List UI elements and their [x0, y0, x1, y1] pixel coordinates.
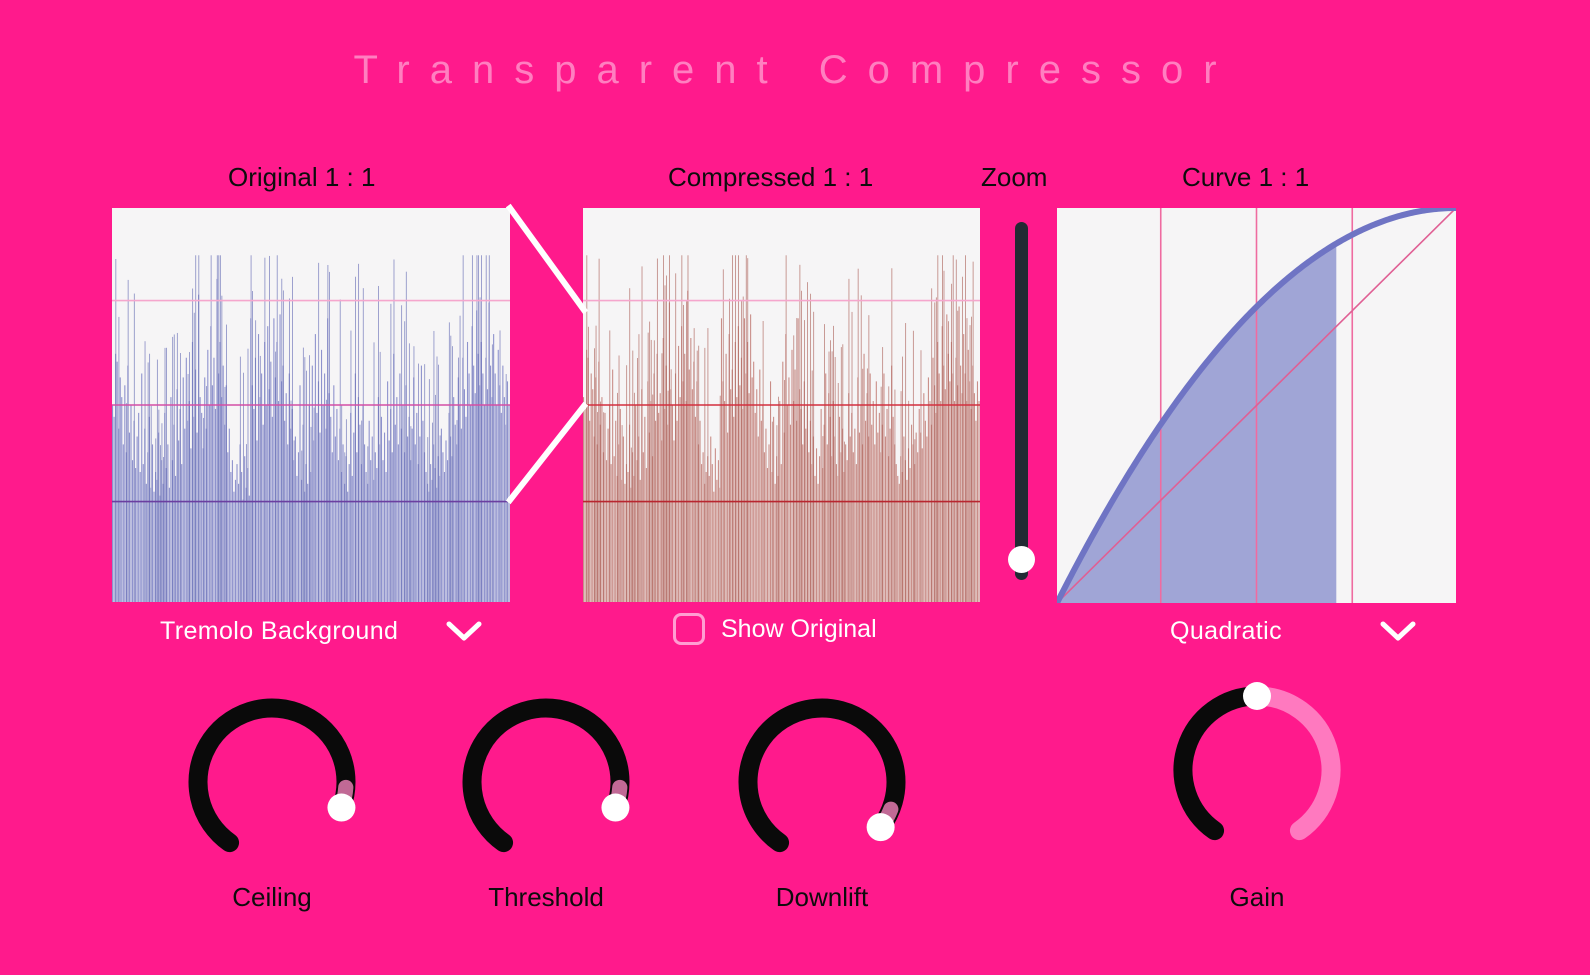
original-panel-heading: Original 1 : 1 [228, 162, 375, 193]
show-original-label: Show Original [721, 615, 877, 644]
threshold-knob[interactable]: Threshold [446, 690, 646, 913]
show-original-checkbox[interactable]: Show Original [673, 613, 877, 645]
page-title: Transparent Compressor [0, 48, 1590, 93]
threshold-knob-dial[interactable] [446, 690, 646, 880]
downlift-knob-label: Downlift [722, 882, 922, 913]
downlift-knob[interactable]: Downlift [722, 690, 922, 913]
zoom-slider-thumb[interactable] [1008, 546, 1035, 573]
gain-knob[interactable]: Gain [1157, 678, 1357, 913]
compressed-waveform-chart [583, 208, 980, 602]
ceiling-knob[interactable]: Ceiling [172, 690, 372, 913]
chevron-down-icon[interactable] [446, 620, 482, 642]
curve-panel-heading: Curve 1 : 1 [1182, 162, 1309, 193]
transfer-curve-chart [1057, 208, 1456, 603]
chevron-down-icon[interactable] [1380, 620, 1416, 642]
waveform-mode-dropdown[interactable]: Tremolo Background [160, 614, 482, 648]
compressed-waveform-panel[interactable] [583, 208, 980, 602]
gain-knob-arc [1157, 678, 1357, 868]
zoom-slider-track[interactable] [1015, 222, 1028, 580]
downlift-knob-dial[interactable] [722, 690, 922, 880]
ceiling-knob-label: Ceiling [172, 882, 372, 913]
ceiling-knob-dial[interactable] [172, 690, 372, 880]
plugin-window: Transparent Compressor Original 1 : 1 Co… [0, 0, 1590, 975]
threshold-knob-arc [446, 690, 646, 880]
checkbox-box-icon[interactable] [673, 613, 705, 645]
original-waveform-panel[interactable] [112, 208, 510, 602]
zoom-slider[interactable] [1007, 216, 1035, 596]
threshold-knob-label: Threshold [446, 882, 646, 913]
zoom-slider-heading: Zoom [981, 162, 1047, 193]
original-waveform-chart [112, 208, 510, 602]
curve-panel[interactable] [1057, 208, 1456, 603]
gain-knob-label: Gain [1157, 882, 1357, 913]
ceiling-knob-arc [172, 690, 372, 880]
gain-knob-dial[interactable] [1157, 678, 1357, 868]
waveform-mode-label: Tremolo Background [160, 617, 398, 646]
curve-type-label: Quadratic [1170, 617, 1282, 646]
curve-type-dropdown[interactable]: Quadratic [1170, 614, 1416, 648]
downlift-knob-arc [722, 690, 922, 880]
compressed-panel-heading: Compressed 1 : 1 [668, 162, 873, 193]
